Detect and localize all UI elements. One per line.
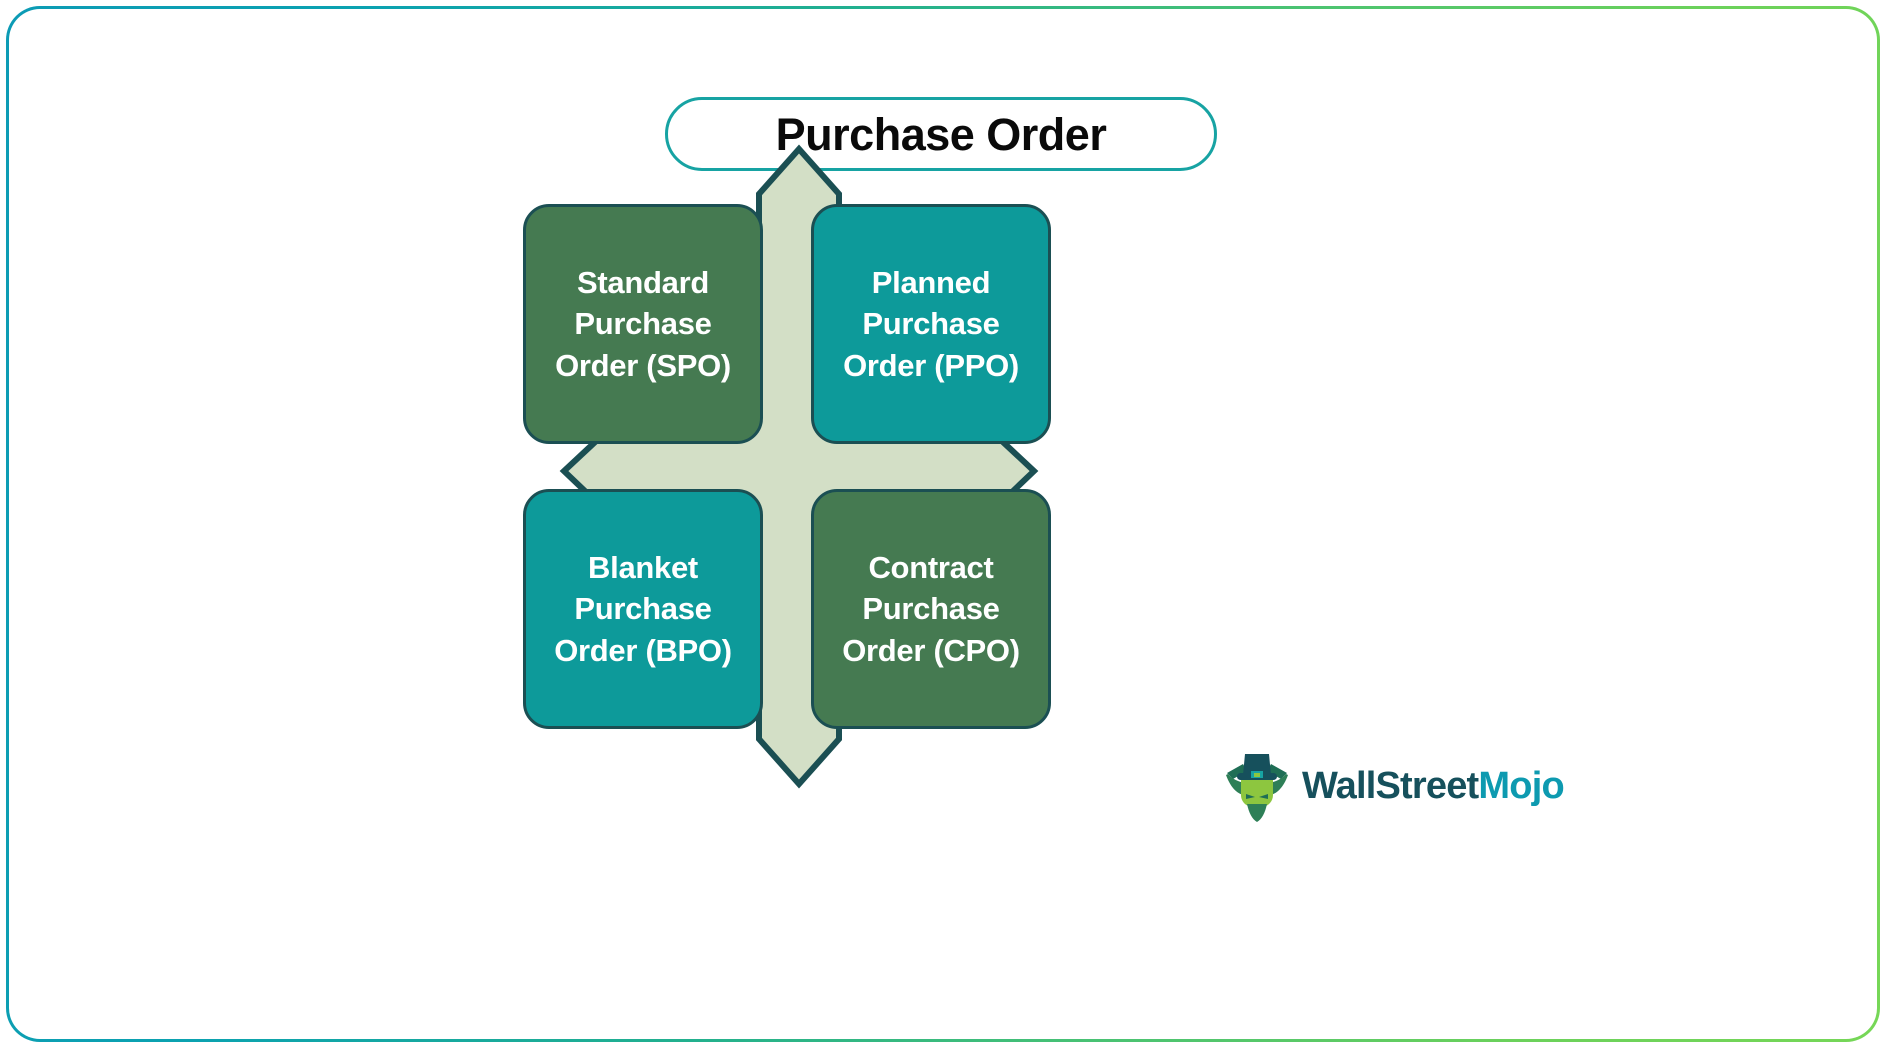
brand-wordmark-part-two: Mojo bbox=[1478, 765, 1563, 807]
quadrant-card-standard-purchase-order[interactable]: Standard Purchase Order (SPO) bbox=[523, 204, 763, 444]
wallstreetmojo-mascot-icon bbox=[1225, 749, 1289, 823]
quadrant-card-label: Contract Purchase Order (CPO) bbox=[814, 547, 1048, 671]
quadrant-card-label: Blanket Purchase Order (BPO) bbox=[526, 547, 760, 671]
quadrant-card-label: Standard Purchase Order (SPO) bbox=[526, 262, 760, 386]
page-title-text: Purchase Order bbox=[776, 112, 1107, 157]
quadrant-card-label: Planned Purchase Order (PPO) bbox=[814, 262, 1048, 386]
quadrant-card-contract-purchase-order[interactable]: Contract Purchase Order (CPO) bbox=[811, 489, 1051, 729]
page-title: Purchase Order bbox=[665, 97, 1217, 171]
brand-wordmark-part-one: WallStreet bbox=[1302, 765, 1478, 807]
quadrant-card-blanket-purchase-order[interactable]: Blanket Purchase Order (BPO) bbox=[523, 489, 763, 729]
quadrant-diagram: Standard Purchase Order (SPO) Planned Pu… bbox=[509, 184, 1089, 759]
page-canvas: Purchase Order Standard Purchase Order (… bbox=[9, 9, 1877, 1039]
page-frame: Purchase Order Standard Purchase Order (… bbox=[6, 6, 1880, 1042]
quadrant-card-planned-purchase-order[interactable]: Planned Purchase Order (PPO) bbox=[811, 204, 1051, 444]
brand-logo: WallStreetMojo bbox=[1225, 749, 1564, 823]
brand-wordmark: WallStreetMojo bbox=[1302, 767, 1564, 805]
